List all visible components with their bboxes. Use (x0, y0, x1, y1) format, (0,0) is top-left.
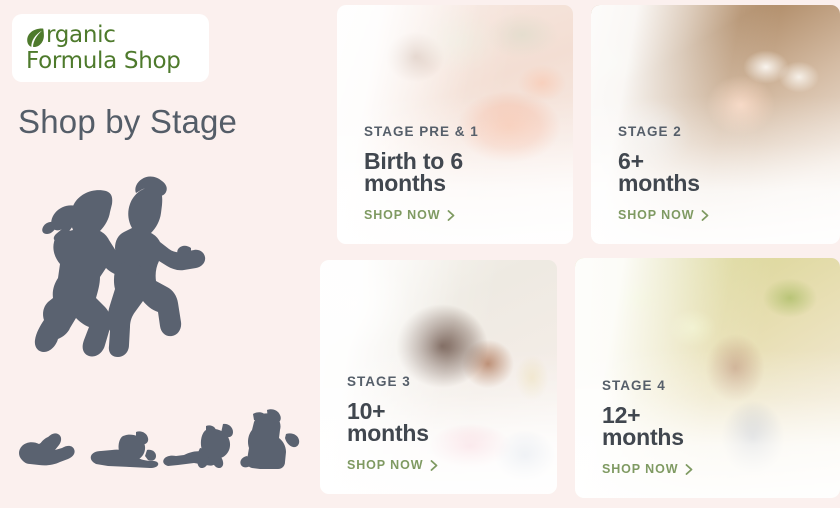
stage-card-3[interactable]: STAGE 3 10+ months SHOP NOW (320, 260, 557, 494)
leaf-icon (26, 27, 45, 48)
chevron-right-icon (701, 210, 710, 221)
card-heading: 12+ months (602, 404, 694, 448)
shop-now-label: SHOP NOW (347, 458, 423, 472)
logo-line-1: rganic (26, 22, 195, 48)
stage-card-4[interactable]: STAGE 4 12+ months SHOP NOW (575, 258, 840, 498)
logo-text-1: rganic (46, 22, 116, 48)
chevron-right-icon (447, 210, 456, 221)
shop-now-label: SHOP NOW (602, 462, 678, 476)
card-body: STAGE 3 10+ months SHOP NOW (347, 374, 439, 472)
logo-line-2: Formula Shop (26, 48, 195, 75)
card-body: STAGE PRE & 1 Birth to 6 months SHOP NOW (364, 124, 479, 222)
shop-now-link[interactable]: SHOP NOW (364, 208, 479, 222)
card-eyebrow: STAGE 4 (602, 378, 694, 393)
shop-by-stage-page: rganic Formula Shop Shop by Stage (0, 0, 840, 508)
card-heading: Birth to 6 months (364, 150, 479, 194)
card-heading: 10+ months (347, 400, 439, 444)
card-body: STAGE 4 12+ months SHOP NOW (602, 378, 694, 476)
left-panel: rganic Formula Shop Shop by Stage (0, 0, 320, 508)
stage-card-pre-and-1[interactable]: STAGE PRE & 1 Birth to 6 months SHOP NOW (337, 5, 573, 244)
baby-stages-illustration (8, 408, 308, 478)
card-eyebrow: STAGE 3 (347, 374, 439, 389)
card-eyebrow: STAGE PRE & 1 (364, 124, 479, 139)
chevron-right-icon (685, 464, 694, 475)
shop-now-link[interactable]: SHOP NOW (618, 208, 710, 222)
card-heading: 6+ months (618, 150, 710, 194)
chevron-right-icon (430, 460, 439, 471)
running-children-illustration (10, 160, 275, 360)
card-body: STAGE 2 6+ months SHOP NOW (618, 124, 710, 222)
brand-logo[interactable]: rganic Formula Shop (12, 14, 209, 82)
shop-now-link[interactable]: SHOP NOW (602, 462, 694, 476)
card-eyebrow: STAGE 2 (618, 124, 710, 139)
shop-now-label: SHOP NOW (364, 208, 440, 222)
stage-card-2[interactable]: STAGE 2 6+ months SHOP NOW (591, 5, 840, 244)
shop-now-label: SHOP NOW (618, 208, 694, 222)
shop-now-link[interactable]: SHOP NOW (347, 458, 439, 472)
page-title: Shop by Stage (18, 103, 237, 141)
